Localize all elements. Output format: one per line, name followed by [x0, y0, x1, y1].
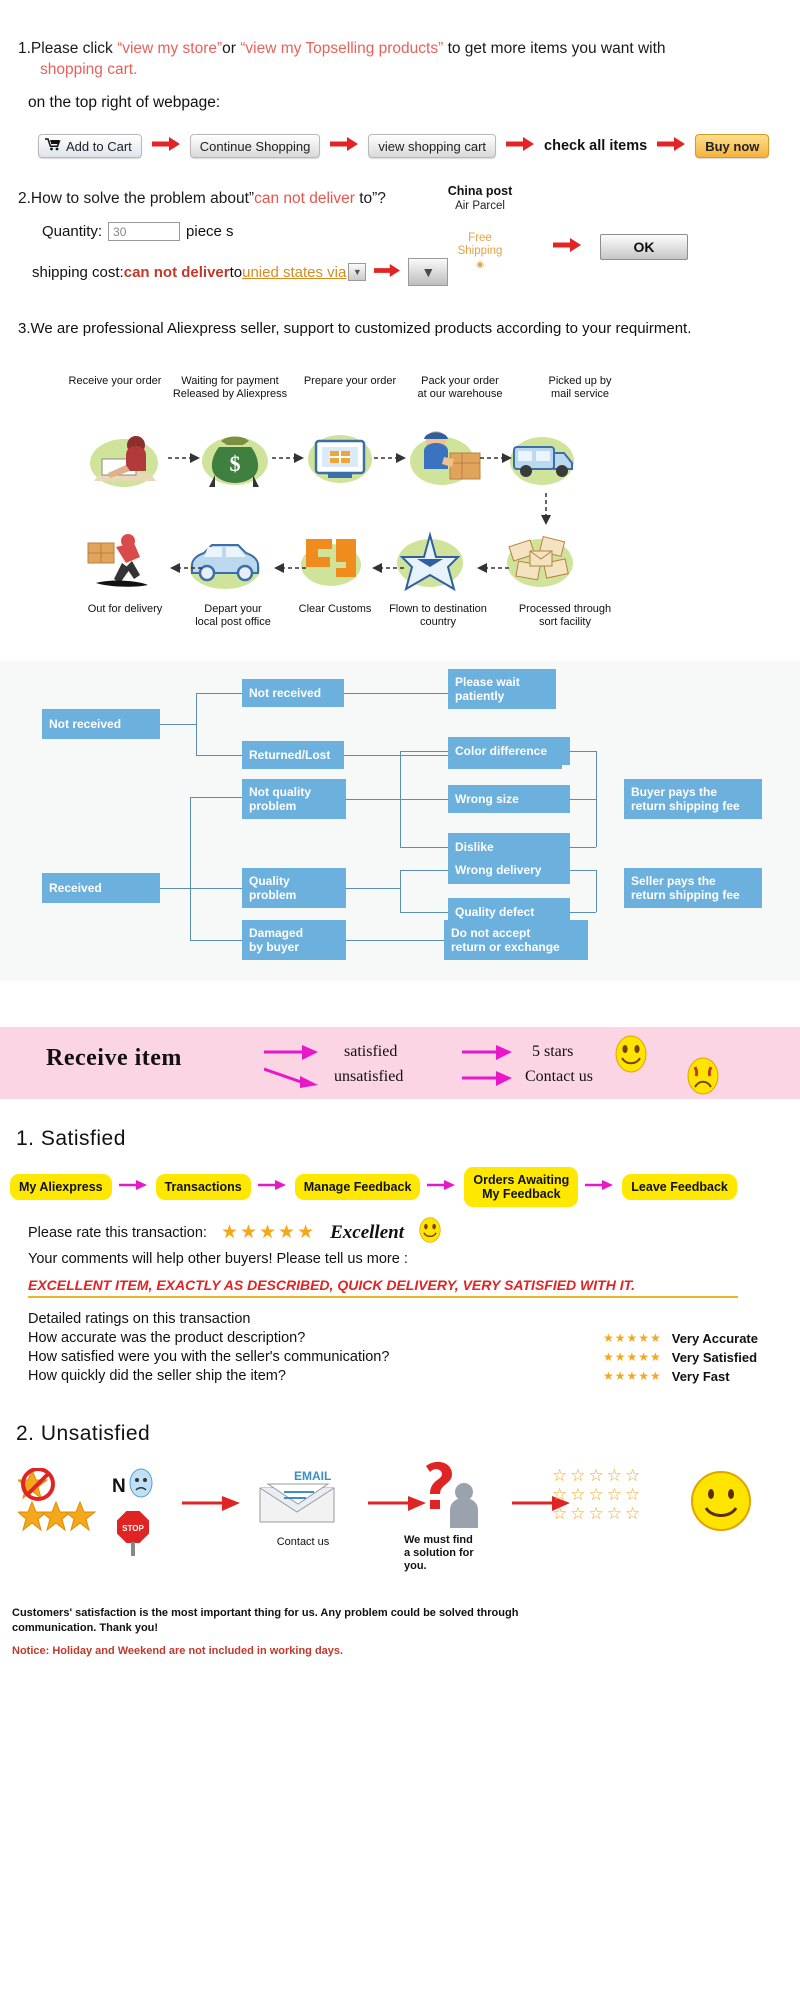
- unsatisfied-heading: 2. Unsatisfied: [0, 1422, 800, 1446]
- flow-node-quality-label: Quality problem: [249, 874, 296, 902]
- flow-line: [190, 940, 242, 941]
- flow-line: [400, 751, 448, 752]
- footer-line-1: Customers' satisfaction is the most impo…: [12, 1607, 518, 1619]
- flow-node-please-wait: Please wait patiently: [448, 669, 556, 709]
- continue-shopping-button[interactable]: Continue Shopping: [190, 134, 321, 158]
- flow-line: [344, 755, 448, 756]
- flow-line: [196, 693, 197, 755]
- return-policy-flowchart: Not received Not received Returned/Lost …: [0, 661, 800, 981]
- question-person-icon: [408, 1460, 492, 1541]
- check-all-items-label: check all items: [544, 138, 647, 154]
- comment-prompt: Your comments will help other buyers! Pl…: [28, 1249, 800, 1269]
- footer-line-2: communication. Thank you!: [12, 1622, 158, 1634]
- flow-icon-worker-box: [400, 419, 490, 496]
- step-my-aliexpress[interactable]: My Aliexpress: [10, 1174, 112, 1200]
- flow-node-buyer-pays-label: Buyer pays the return shipping fee: [631, 785, 740, 813]
- svg-text:$: $: [230, 451, 241, 476]
- section-2: 2.How to solve the problem about”can not…: [0, 188, 800, 286]
- satisfied-heading: 1. Satisfied: [0, 1127, 800, 1151]
- footer-text: Customers' satisfaction is the most impo…: [0, 1606, 800, 1659]
- email-envelope-icon: EMAIL: [254, 1466, 346, 1537]
- flow-node-please-wait-label: Please wait patiently: [455, 675, 520, 703]
- flow-node-wrong-delivery: Wrong delivery: [448, 856, 570, 884]
- section-1: 1.Please click “view my store”or “view m…: [0, 0, 800, 158]
- section2-heading: 2.How to solve the problem about”can not…: [18, 188, 800, 209]
- section2-heading-a: 2.How to solve the problem about”: [18, 190, 254, 207]
- flow-line: [570, 870, 596, 871]
- worried-face-icon: [128, 1468, 154, 1503]
- solution-caption: We must find a solution for you.: [404, 1534, 524, 1573]
- section2-heading-red: can not deliver: [254, 190, 355, 207]
- flow-node-no-return-label: Do not accept return or exchange: [451, 926, 560, 954]
- rating-stars[interactable]: ★★★★★: [221, 1223, 316, 1243]
- section1-mid: or: [222, 40, 240, 57]
- cart-button-strip: Add to Cart Continue Shopping view shopp…: [18, 134, 800, 158]
- flow-caption-clear-customs: Clear Customs: [280, 603, 390, 616]
- flow-line: [196, 755, 242, 756]
- flow-node-seller-pays: Seller pays the return shipping fee: [624, 868, 762, 908]
- flow-caption-receive-order: Receive your order: [60, 375, 170, 388]
- detail-stars-3[interactable]: ★★★★★: [603, 1367, 662, 1386]
- shipping-flow-diagram: Receive your order Waiting for paymentRe…: [0, 361, 800, 651]
- satisfied-label: satisfied: [344, 1043, 397, 1061]
- contact-us-caption: Contact us: [248, 1536, 358, 1548]
- big-smiley-icon: [690, 1470, 752, 1537]
- flow-line: [570, 799, 596, 800]
- flow-line: [190, 888, 242, 889]
- detail-rating-row: ★★★★★ Very Accurate: [603, 1329, 758, 1348]
- rating-word: Excellent: [330, 1223, 404, 1243]
- magenta-arrow-icon: [462, 1045, 514, 1066]
- detail-label-2: Very Satisfied: [672, 1348, 757, 1367]
- flow-node-quality-problem: Quality problem: [242, 868, 346, 908]
- flow-line: [570, 912, 596, 913]
- flow-caption-prepare-order: Prepare your order: [295, 375, 405, 388]
- happy-face-icon: [614, 1035, 648, 1077]
- magenta-arrow-icon: [264, 1067, 320, 1094]
- flow-line: [190, 797, 242, 798]
- section1-line1: 1.Please click “view my store”or “view m…: [18, 38, 800, 59]
- quantity-unit: piece s: [186, 223, 234, 240]
- buy-now-label: Buy now: [705, 139, 759, 154]
- step-transactions[interactable]: Transactions: [156, 1174, 251, 1200]
- flow-caption-depart-post-office: Depart yourlocal post office: [178, 603, 288, 629]
- flow-node-not-quality-problem: Not quality problem: [242, 779, 346, 819]
- flow-line: [344, 693, 448, 694]
- flow-caption-sort-facility: Processed throughsort facility: [500, 603, 630, 629]
- flow-arrow-left-icon: [370, 561, 404, 579]
- detail-rating-values: ★★★★★ Very Accurate ★★★★★ Very Satisfied…: [603, 1329, 758, 1386]
- view-shopping-cart-label: view shopping cart: [378, 139, 486, 154]
- flow-line: [346, 940, 444, 941]
- detail-stars-2[interactable]: ★★★★★: [603, 1348, 662, 1367]
- flow-arrow-right-icon: [480, 451, 514, 469]
- detailed-ratings: Detailed ratings on this transaction How…: [0, 1310, 800, 1386]
- arrow-right-icon: [374, 264, 400, 281]
- view-shopping-cart-button[interactable]: view shopping cart: [368, 134, 496, 158]
- svg-text:EMAIL: EMAIL: [294, 1469, 331, 1483]
- page-root: 1.Please click “view my store”or “view m…: [0, 0, 800, 2000]
- rate-transaction-label: Please rate this transaction:: [28, 1223, 207, 1243]
- flow-node-damaged-label: Damaged by buyer: [249, 926, 303, 954]
- flow-icon-money-bag: $: [195, 419, 275, 496]
- flow-arrow-right-icon: [168, 451, 202, 469]
- magenta-arrow-icon: [427, 1178, 457, 1196]
- cart-icon: [45, 138, 61, 154]
- feedback-comment-text: EXCELLENT ITEM, EXACTLY AS DESCRIBED, QU…: [0, 1277, 800, 1293]
- flow-node-seller-pays-label: Seller pays the return shipping fee: [631, 874, 740, 902]
- shipping-cannot-deliver: can not deliver: [124, 264, 230, 281]
- flow-line: [400, 912, 448, 913]
- feedback-steps: My Aliexpress Transactions Manage Feedba…: [0, 1167, 800, 1207]
- section1-prefix: 1.Please click: [18, 40, 117, 57]
- arrow-right-icon: [657, 137, 685, 156]
- arrow-right-icon: [506, 137, 534, 156]
- sad-face-icon: [686, 1057, 720, 1099]
- arrow-right-icon: [330, 137, 358, 156]
- comment-underline: [28, 1296, 738, 1298]
- flow-line: [346, 888, 400, 889]
- flow-node-color-difference: Color difference: [448, 737, 570, 765]
- flow-caption-flown-destination: Flown to destinationcountry: [378, 603, 498, 629]
- step-orders-awaiting-feedback[interactable]: Orders Awaiting My Feedback: [464, 1167, 578, 1207]
- shipping-cost-label: shipping cost:: [32, 264, 124, 281]
- flow-arrow-left-icon: [168, 561, 202, 579]
- flow-node-received-root: Received: [42, 873, 160, 903]
- flow-line: [400, 847, 448, 848]
- stop-sign-icon: STOP: [114, 1508, 154, 1561]
- magenta-arrow-icon: [264, 1045, 320, 1066]
- arrow-right-icon: [552, 238, 582, 257]
- unsatisfied-label: unsatisfied: [334, 1068, 403, 1086]
- flow-caption-waiting-payment: Waiting for paymentReleased by Aliexpres…: [165, 375, 295, 401]
- magenta-arrow-icon: [585, 1178, 615, 1196]
- flow-line: [190, 797, 191, 940]
- flow-node-damaged-by-buyer: Damaged by buyer: [242, 920, 346, 960]
- flow-line: [160, 724, 196, 725]
- flow-line: [400, 799, 448, 800]
- flow-icon-computer-user: [80, 419, 166, 496]
- step-leave-feedback[interactable]: Leave Feedback: [622, 1174, 737, 1200]
- free-shipping-label: FreeShipping◉: [420, 232, 540, 271]
- flow-line: [570, 751, 596, 752]
- detail-rating-row: ★★★★★ Very Satisfied: [603, 1348, 758, 1367]
- footer-note: Notice: Holiday and Weekend are not incl…: [12, 1644, 800, 1659]
- step-manage-feedback[interactable]: Manage Feedback: [295, 1174, 421, 1200]
- quantity-label: Quantity:: [42, 223, 102, 240]
- add-to-cart-label: Add to Cart: [66, 139, 132, 154]
- detail-label-3: Very Fast: [672, 1367, 730, 1386]
- receive-item-title: Receive item: [46, 1045, 182, 1072]
- magenta-arrow-icon: [119, 1178, 149, 1196]
- flow-node-no-return: Do not accept return or exchange: [444, 920, 588, 960]
- flow-caption-pack-order: Pack your orderat our warehouse: [400, 375, 520, 401]
- flow-node-not-quality-label: Not quality problem: [249, 785, 311, 813]
- continue-shopping-label: Continue Shopping: [200, 139, 311, 154]
- section1-shopping-cart-text: shopping cart.: [18, 59, 800, 80]
- step-orders-awaiting-label: Orders Awaiting My Feedback: [473, 1173, 569, 1201]
- flow-node-not-received-root: Not received: [42, 709, 160, 739]
- shipping-to: to: [230, 264, 243, 281]
- unsatisfied-diagram: N STOP EMAIL Contact us: [0, 1456, 800, 1606]
- flow-line: [596, 870, 597, 912]
- arrow-right-icon: [182, 1496, 242, 1517]
- contact-us-label: Contact us: [525, 1068, 593, 1086]
- flow-icon-package-computer: [300, 419, 380, 496]
- flow-caption-picked-up: Picked up bymail service: [525, 375, 635, 401]
- view-topselling-link[interactable]: “view my Topselling products”: [240, 40, 443, 57]
- rating-block: Please rate this transaction: ★★★★★ Exce…: [0, 1217, 800, 1269]
- flow-line: [596, 751, 597, 847]
- add-to-cart-button[interactable]: Add to Cart: [38, 134, 142, 158]
- flow-node-returned-lost: Returned/Lost: [242, 741, 344, 769]
- detailed-ratings-title: Detailed ratings on this transaction: [28, 1310, 800, 1329]
- flow-node-wrong-size: Wrong size: [448, 785, 570, 813]
- flow-line: [196, 693, 242, 694]
- ok-button[interactable]: OK: [600, 234, 688, 260]
- flow-arrow-right-icon: [272, 451, 306, 469]
- carrier-name: China post: [420, 184, 540, 198]
- no-rating-icon: [18, 1468, 110, 1549]
- flow-caption-out-for-delivery: Out for delivery: [70, 603, 180, 616]
- flow-line: [160, 888, 190, 889]
- five-stars-label: 5 stars: [532, 1043, 573, 1061]
- view-my-store-link[interactable]: “view my store”: [117, 40, 222, 57]
- svg-text:STOP: STOP: [122, 1524, 144, 1533]
- flow-arrow-right-icon: [374, 451, 408, 469]
- receive-item-banner: Receive item satisfied unsatisfied 5 sta…: [0, 1027, 800, 1099]
- rating-stars-grid: ☆☆☆☆☆☆☆☆☆☆☆☆☆☆☆: [552, 1466, 643, 1523]
- flow-icon-delivery-runner: [82, 529, 168, 600]
- flow-node-buyer-pays: Buyer pays the return shipping fee: [624, 779, 762, 819]
- flow-arrow-down-icon: [540, 493, 552, 532]
- chevron-down-icon[interactable]: ▼: [348, 263, 366, 281]
- flow-line: [400, 870, 401, 912]
- section2-heading-b: to”?: [355, 190, 386, 207]
- detail-label-1: Very Accurate: [672, 1329, 758, 1348]
- arrow-right-icon: [152, 137, 180, 156]
- no-letter: N: [112, 1476, 126, 1498]
- section1-suffix: to get more items you want with: [443, 40, 665, 57]
- shipping-cost-row: shipping cost: can not deliver to unied …: [18, 258, 800, 286]
- quantity-input[interactable]: 30: [108, 222, 180, 241]
- magenta-arrow-icon: [462, 1071, 514, 1092]
- section-3-text: 3.We are professional Aliexpress seller,…: [0, 320, 800, 337]
- flow-line: [400, 870, 448, 871]
- flow-arrow-left-icon: [272, 561, 306, 579]
- happy-face-icon: [418, 1217, 442, 1249]
- flow-line: [570, 847, 596, 848]
- carrier-type: Air Parcel: [420, 200, 540, 212]
- detail-rating-row: ★★★★★ Very Fast: [603, 1367, 758, 1386]
- buy-now-button[interactable]: Buy now: [695, 134, 769, 158]
- shipping-country-select[interactable]: unied states via: [242, 264, 346, 281]
- carrier-info: China post Air Parcel: [420, 184, 540, 212]
- flow-node-not-received-branch: Not received: [242, 679, 344, 707]
- magenta-arrow-icon: [258, 1178, 288, 1196]
- detail-stars-1[interactable]: ★★★★★: [603, 1329, 662, 1348]
- section1-line3: on the top right of webpage:: [18, 94, 800, 112]
- flow-line: [346, 799, 400, 800]
- flow-arrow-left-icon: [475, 561, 509, 579]
